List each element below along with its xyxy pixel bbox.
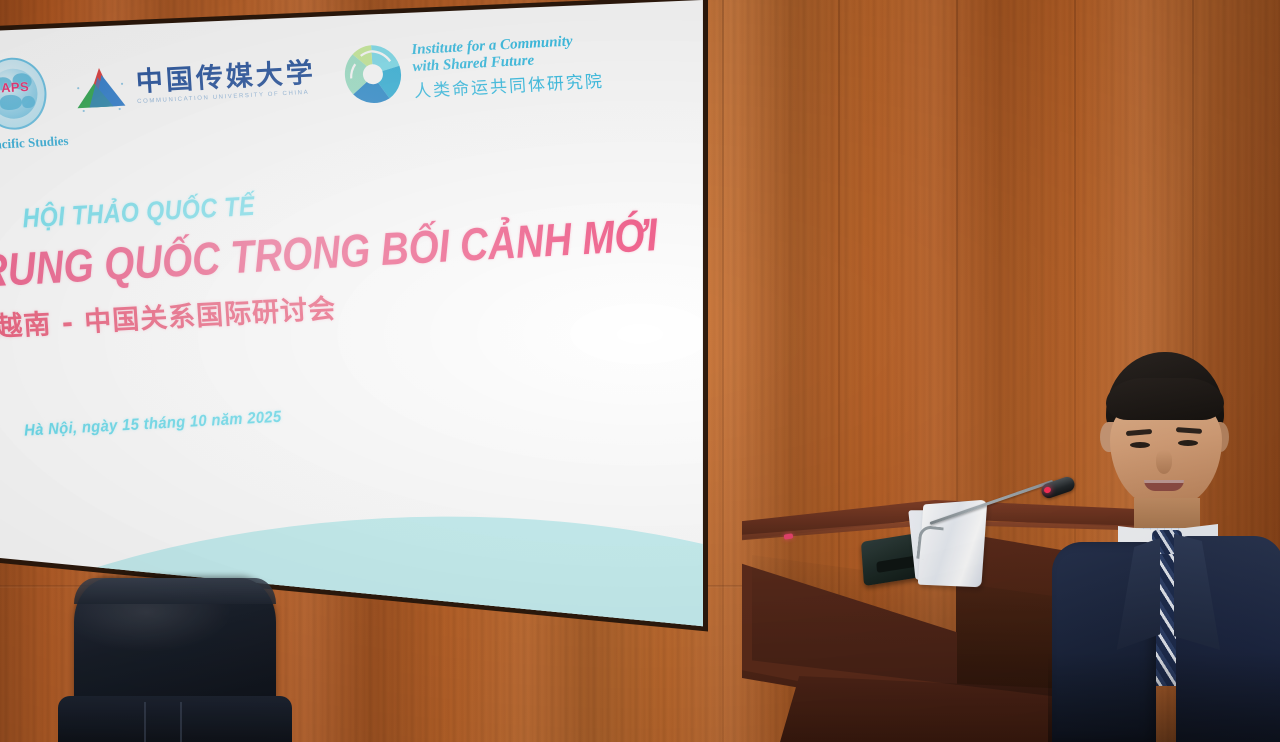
chair-seam bbox=[144, 702, 146, 742]
logo-cuc: 中国传媒大学 COMMUNICATION UNIVERSITY OF CHINA bbox=[71, 53, 318, 114]
slide-subtitle-cn: 时代的越南 - 中国关系国际研讨会 bbox=[0, 287, 337, 349]
iaps-globe-icon: IAPS bbox=[0, 56, 49, 131]
chair bbox=[58, 578, 308, 742]
chair-headrest-edge bbox=[74, 578, 276, 604]
conference-photo: IAPS te of Asia-Pacific Studies bbox=[0, 0, 1280, 742]
tablet-led-icon bbox=[784, 533, 794, 539]
microphone-neck bbox=[916, 525, 943, 561]
speaker-mouth bbox=[1144, 480, 1184, 491]
icsf-spiral-icon bbox=[340, 42, 406, 107]
wall-panel-seam bbox=[722, 0, 724, 742]
projection-screen: IAPS te of Asia-Pacific Studies bbox=[0, 0, 708, 654]
chair-lower-back bbox=[58, 696, 292, 742]
speaker-nose bbox=[1156, 450, 1172, 474]
speaker-lower-shadow bbox=[1048, 652, 1280, 742]
speaker-hair-fringe bbox=[1106, 378, 1224, 420]
chair-seam bbox=[180, 702, 182, 742]
speaker-eye-right bbox=[1178, 440, 1198, 446]
slide-logo-row: IAPS te of Asia-Pacific Studies bbox=[0, 20, 708, 132]
slide-kicker: HỘI THẢO QUỐC TẾ bbox=[22, 191, 256, 235]
speaker-eye-left bbox=[1130, 442, 1150, 448]
cuc-mountain-icon bbox=[71, 64, 130, 115]
logo-iaps: IAPS te of Asia-Pacific Studies bbox=[0, 56, 49, 131]
presentation-slide: IAPS te of Asia-Pacific Studies bbox=[0, 0, 708, 654]
speaker-person bbox=[1048, 352, 1280, 742]
slide-date-line: Hà Nội, ngày 15 tháng 10 năm 2025 bbox=[24, 409, 282, 441]
iaps-caption: te of Asia-Pacific Studies bbox=[0, 129, 132, 156]
logo-icsf: Institute for a Community with Shared Fu… bbox=[340, 31, 605, 107]
